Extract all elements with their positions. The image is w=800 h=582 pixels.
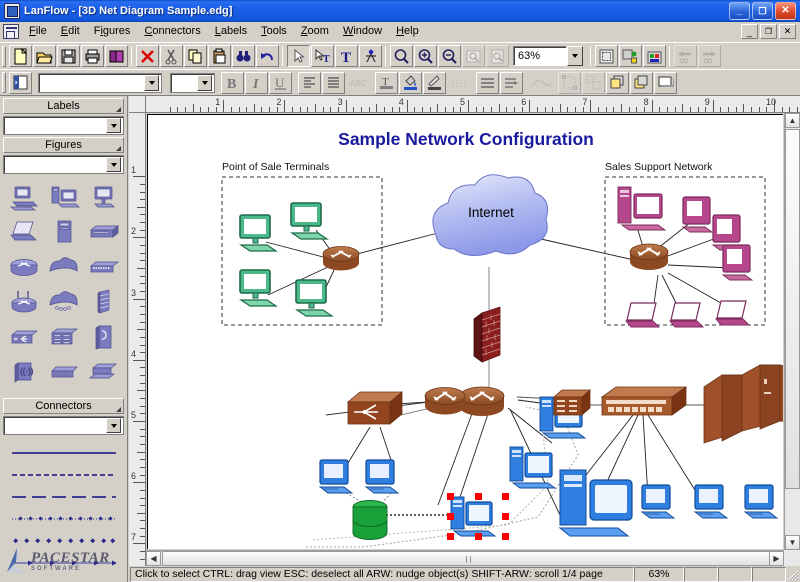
resize-grip-icon[interactable] (116, 146, 121, 151)
vertical-scrollbar[interactable]: ▲ ▼ (784, 113, 800, 550)
ruler-minor-tick (140, 436, 145, 437)
ruler-minor-tick (140, 498, 145, 499)
diagram-canvas[interactable]: Sample Network Configuration Point of Sa… (147, 114, 783, 549)
ruler-label: 7 (131, 532, 136, 542)
palette-section-connectors[interactable]: Connectors (3, 398, 124, 414)
network-switch (602, 387, 686, 415)
palette-labels-title: Labels (47, 100, 79, 112)
svg-text:U: U (275, 75, 285, 90)
zoom-percent-box[interactable]: 63% (513, 46, 567, 66)
page-setup-icon[interactable] (595, 45, 618, 67)
lan-workstation (745, 485, 777, 518)
line-width-icon[interactable] (476, 72, 499, 94)
cut-scissors-icon[interactable] (160, 45, 183, 67)
svg-text:((·)): ((·)) (20, 367, 34, 376)
ruler-label: 3 (338, 97, 343, 107)
ruler-major-tick (133, 482, 145, 483)
ruler-minor-tick (137, 329, 145, 330)
bring-front-icon[interactable] (606, 72, 629, 94)
ruler-minor-tick (598, 107, 599, 112)
ruler-minor-tick (338, 107, 339, 112)
sales-workstation (723, 245, 752, 280)
link-forward-icon[interactable] (698, 45, 721, 67)
zoom-page-icon[interactable] (486, 45, 509, 67)
ruler-minor-tick (140, 314, 145, 315)
ruler-minor-tick (743, 104, 744, 112)
ruler-minor-tick (392, 107, 393, 112)
menu-zoom[interactable]: Zoom (294, 23, 336, 40)
server-tower-figure[interactable] (44, 215, 83, 249)
ruler-minor-tick (140, 528, 145, 529)
minimize-icon: _ (737, 6, 743, 16)
ruler-label: 9 (705, 97, 710, 107)
svg-text:T: T (341, 50, 351, 65)
ruler-minor-tick (736, 107, 737, 112)
pos-terminal (296, 280, 332, 316)
chevron-down-icon[interactable] (144, 75, 159, 91)
mdi-close-icon: ✕ (784, 26, 792, 37)
sales-server-workstation (618, 187, 665, 230)
ruler-minor-tick (246, 107, 247, 112)
ruler-major-tick (223, 100, 224, 112)
connectors-dropdown[interactable] (3, 416, 124, 435)
ruler-minor-tick (137, 513, 145, 514)
lanflow-icon (4, 3, 20, 19)
ruler-minor-tick (797, 107, 798, 112)
pos-terminal (240, 215, 276, 251)
lan-workstation (642, 485, 674, 518)
menu-labels[interactable]: Labels (208, 23, 254, 40)
rack-unit-figure[interactable] (84, 215, 123, 249)
dotted-diamond-connector[interactable] (5, 508, 122, 530)
figures-dropdown[interactable] (3, 155, 124, 174)
find-binoculars-icon[interactable] (232, 45, 255, 67)
sales-laptop (670, 303, 703, 327)
palette-connectors-title: Connectors (35, 400, 91, 412)
ruler-minor-tick (177, 107, 178, 112)
ruler-label: 5 (460, 97, 465, 107)
ruler-major-tick (590, 100, 591, 112)
ruler-minor-tick (261, 107, 262, 112)
undo-arrow-icon[interactable] (256, 45, 279, 67)
core-router (460, 387, 504, 416)
menu-window[interactable]: Window (336, 23, 389, 40)
ruler-minor-tick (140, 444, 145, 445)
svg-text:T: T (323, 54, 330, 65)
ruler-minor-tick (353, 107, 354, 112)
status-bar: Click to select CTRL: drag view ESC: des… (129, 566, 800, 582)
pos-terminal (240, 270, 276, 306)
svg-text:I: I (252, 77, 259, 91)
window-controls: _ ❐ ✕ (729, 2, 798, 20)
link-back-icon[interactable] (674, 45, 697, 67)
ruler-minor-tick (170, 107, 171, 112)
ruler-major-tick (284, 100, 285, 112)
ruler-minor-tick (414, 107, 415, 112)
format-toolbar-grip[interactable] (2, 72, 6, 93)
firewall (474, 307, 500, 362)
chevron-down-icon[interactable] (106, 118, 121, 133)
vertical-ruler: 12345678 (129, 113, 146, 566)
figure-properties-icon[interactable] (619, 45, 642, 67)
selected-figure (447, 493, 509, 540)
toolbar-grip[interactable] (2, 46, 6, 67)
tower-monitor-figure[interactable] (44, 180, 83, 214)
laptop-figure[interactable] (4, 215, 43, 249)
chevron-down-icon[interactable] (106, 157, 121, 172)
ruler-label: 1 (215, 97, 220, 107)
new-document-icon[interactable] (9, 45, 32, 67)
ruler-minor-tick (140, 260, 145, 261)
delete-x-icon[interactable] (136, 45, 159, 67)
labels-dropdown[interactable] (3, 116, 124, 135)
chevron-down-icon[interactable] (106, 418, 121, 433)
line-style-icon[interactable] (447, 72, 470, 94)
ruler-label: 10 (766, 97, 776, 107)
ruler-minor-tick (140, 398, 145, 399)
ruler-minor-tick (445, 107, 446, 112)
dock-panel-icon[interactable] (9, 72, 32, 94)
ruler-minor-tick (208, 107, 209, 112)
align-justify-icon[interactable] (322, 72, 345, 94)
send-back-icon[interactable] (630, 72, 653, 94)
group-label-pos: Point of Sale Terminals (222, 161, 329, 173)
svg-text:B: B (227, 77, 236, 91)
zoom-percent-value: 63% (518, 50, 540, 62)
ruler-minor-tick (140, 199, 145, 200)
ruler-major-tick (133, 421, 145, 422)
arrow-style-icon[interactable] (500, 72, 523, 94)
select-text-icon[interactable]: T (311, 45, 334, 67)
mdi-restore-button[interactable]: ❐ (760, 24, 777, 39)
status-zoom-value: 63% (648, 568, 669, 580)
ruler-label: 2 (276, 97, 281, 107)
ruler-minor-tick (483, 107, 484, 112)
curve-icon[interactable] (529, 72, 552, 94)
save-disk-icon[interactable] (57, 45, 80, 67)
ruler-minor-tick (140, 429, 145, 430)
fill-color-icon[interactable] (399, 72, 422, 94)
ruler-minor-tick (140, 367, 145, 368)
zoom-selection-icon[interactable] (462, 45, 485, 67)
pos-router (323, 247, 359, 271)
wireless-access-point-figure[interactable]: ((·)) (4, 355, 43, 389)
ruler-minor-tick (140, 352, 145, 353)
lanflow-application-window: LanFlow - [3D Net Diagram Sample.edg] _ … (0, 0, 800, 582)
sales-router (630, 244, 668, 270)
ruler-minor-tick (384, 107, 385, 112)
lan-switch (348, 392, 402, 424)
ruler-minor-tick (140, 413, 145, 414)
ruler-minor-tick (789, 107, 790, 112)
horizontal-scroll-thumb[interactable] (162, 551, 770, 566)
ruler-minor-tick (140, 291, 145, 292)
horizontal-scrollbar[interactable]: ◀ ▶ (146, 550, 784, 566)
group-icon[interactable] (558, 72, 581, 94)
menu-edit[interactable]: Edit (54, 23, 87, 40)
chevron-down-icon[interactable] (197, 75, 212, 91)
sales-laptop (716, 301, 749, 325)
scanner-figure[interactable] (84, 355, 123, 389)
ruler-minor-tick (537, 107, 538, 112)
mdi-close-button[interactable]: ✕ (779, 24, 796, 39)
ruler-minor-tick (476, 107, 477, 112)
flat-monitor-figure[interactable] (84, 180, 123, 214)
ruler-minor-tick (140, 375, 145, 376)
ruler-minor-tick (560, 104, 561, 112)
ruler-label: 2 (131, 226, 136, 236)
ruler-minor-tick (499, 104, 500, 112)
scroll-left-button[interactable]: ◀ (146, 551, 161, 566)
ruler-minor-tick (140, 322, 145, 323)
zoom-dropdown-button[interactable] (567, 46, 583, 66)
ruler-minor-tick (453, 107, 454, 112)
ruler-minor-tick (216, 107, 217, 112)
modem-figure[interactable] (44, 355, 83, 389)
ruler-minor-tick (460, 107, 461, 112)
chevron-left-icon: ◀ (150, 554, 156, 563)
ruler-minor-tick (751, 107, 752, 112)
copy-icon[interactable] (184, 45, 207, 67)
ungroup-icon[interactable] (582, 72, 605, 94)
ruler-minor-tick (682, 104, 683, 112)
hub-figure[interactable] (84, 250, 123, 284)
zoom-tool-icon[interactable] (390, 45, 413, 67)
ruler-minor-tick (613, 107, 614, 112)
server-rack-cluster (704, 365, 783, 443)
connector-tool-icon[interactable] (359, 45, 382, 67)
diagram-title: Sample Network Configuration (338, 129, 594, 149)
lan-workstation (695, 485, 727, 518)
ruler-minor-tick (422, 107, 423, 112)
ruler-minor-tick (575, 107, 576, 112)
ruler-minor-tick (140, 345, 145, 346)
zoom-in-icon[interactable] (414, 45, 437, 67)
document-system-menu-icon[interactable] (3, 24, 19, 39)
document-area: 1234567891011 12345678 Sample Network Co… (129, 96, 800, 566)
shadow-icon[interactable] (654, 72, 677, 94)
ruler-minor-tick (140, 505, 145, 506)
ruler-minor-tick (140, 337, 145, 338)
ruler-minor-tick (140, 551, 145, 552)
close-button[interactable]: ✕ (775, 2, 796, 20)
scroll-up-button[interactable]: ▲ (785, 113, 800, 128)
dashed-line-connector[interactable] (5, 464, 122, 486)
ruler-minor-tick (361, 107, 362, 112)
sales-workstation (683, 197, 712, 232)
chevron-down-icon: ▼ (789, 538, 797, 547)
ruler-minor-tick (140, 192, 145, 193)
ruler-major-tick (133, 176, 145, 177)
ruler-minor-tick (545, 107, 546, 112)
scroll-right-button[interactable]: ▶ (769, 551, 784, 566)
ruler-major-tick (133, 299, 145, 300)
select-pointer-icon[interactable] (287, 45, 310, 67)
ruler-major-tick (468, 100, 469, 112)
ruler-minor-tick (137, 268, 145, 269)
print-icon[interactable] (81, 45, 104, 67)
ruler-minor-tick (720, 107, 721, 112)
ruler-minor-tick (277, 107, 278, 112)
main-toolbar: T T 63% (0, 42, 800, 69)
ruler-minor-tick (659, 107, 660, 112)
ruler-minor-tick (782, 107, 783, 112)
ruler-label: 8 (644, 97, 649, 107)
distribution-router (425, 388, 465, 415)
ruler-minor-tick (315, 104, 316, 112)
ruler-minor-tick (506, 107, 507, 112)
wireless-router-figure[interactable] (4, 285, 43, 319)
ruler-minor-tick (728, 107, 729, 112)
ruler-major-tick (133, 237, 145, 238)
window-title: LanFlow - [3D Net Diagram Sample.edg] (24, 5, 729, 17)
logo-primary-text: PACESTAR (31, 551, 110, 566)
ruler-minor-tick (137, 452, 145, 453)
ruler-minor-tick (140, 490, 145, 491)
ruler-minor-tick (376, 104, 377, 112)
menu-figures[interactable]: Figures (87, 23, 138, 40)
patch-panel (554, 390, 590, 415)
mdi-restore-icon: ❐ (765, 27, 772, 36)
lan-workstation (366, 460, 398, 493)
ruler-minor-tick (140, 536, 145, 537)
text-color-icon[interactable]: T (375, 72, 398, 94)
ruler-major-tick (407, 100, 408, 112)
ruler-minor-tick (140, 283, 145, 284)
palette-figures-title: Figures (45, 139, 82, 151)
datacenter-workstation (560, 470, 632, 536)
ruler-minor-tick (140, 459, 145, 460)
pos-terminal-group (240, 203, 359, 316)
mdi-minimize-button[interactable]: _ (741, 24, 758, 39)
ruler-minor-tick (231, 107, 232, 112)
italic-icon[interactable]: I (245, 72, 268, 94)
open-folder-icon[interactable] (33, 45, 56, 67)
mdi-minimize-icon: _ (747, 27, 752, 37)
status-panel-2 (684, 567, 718, 582)
ruler-minor-tick (140, 230, 145, 231)
ruler-major-tick (346, 100, 347, 112)
menu-help[interactable]: Help (389, 23, 426, 40)
resize-grip-icon[interactable] (787, 569, 799, 581)
print-preview-book-icon[interactable] (105, 45, 128, 67)
ruler-minor-tick (140, 520, 145, 521)
sales-support-group (618, 187, 752, 327)
cloud-small-figure[interactable] (44, 285, 83, 319)
zoom-out-icon[interactable] (438, 45, 461, 67)
ruler-minor-tick (140, 383, 145, 384)
ruler-label: 4 (131, 349, 136, 359)
maximize-button[interactable]: ❐ (752, 2, 773, 20)
ruler-minor-tick (239, 107, 240, 112)
ruler-corner (129, 96, 146, 113)
close-icon: ✕ (781, 6, 789, 16)
ruler-minor-tick (140, 245, 145, 246)
scroll-down-button[interactable]: ▼ (785, 535, 800, 550)
font-name-combo[interactable] (38, 73, 162, 93)
palette-section-figures[interactable]: Figures (3, 137, 124, 153)
ruler-minor-tick (629, 107, 630, 112)
paste-clipboard-icon[interactable] (208, 45, 231, 67)
ruler-minor-tick (667, 107, 668, 112)
vertical-scroll-thumb[interactable] (785, 129, 800, 489)
ruler-minor-tick (254, 104, 255, 112)
resize-grip-icon[interactable] (116, 407, 121, 412)
sales-laptop (626, 303, 659, 327)
ruler-minor-tick (698, 107, 699, 112)
ruler-minor-tick (675, 107, 676, 112)
menu-file[interactable]: File (22, 23, 54, 40)
ruler-label: 7 (582, 97, 587, 107)
palette-section-labels[interactable]: Labels (3, 98, 124, 114)
ruler-minor-tick (140, 214, 145, 215)
ruler-minor-tick (766, 107, 767, 112)
format-toolbar: B I U ABC T (0, 69, 800, 96)
diagram-properties-icon[interactable] (643, 45, 666, 67)
network-cloud-figure[interactable] (44, 250, 83, 284)
database-server (353, 501, 387, 540)
ruler-label: 5 (131, 410, 136, 420)
logo-secondary-text: SOFTWARE (31, 566, 110, 572)
resize-grip-icon[interactable] (116, 107, 121, 112)
switch-figure[interactable] (4, 320, 43, 354)
minimize-button[interactable]: _ (729, 2, 750, 20)
menu-connectors[interactable]: Connectors (137, 23, 207, 40)
firewall-figure[interactable] (84, 285, 123, 319)
text-tool-icon[interactable]: T (335, 45, 358, 67)
ruler-minor-tick (522, 107, 523, 112)
underline-icon[interactable]: U (269, 72, 292, 94)
ruler-minor-tick (200, 107, 201, 112)
font-size-combo[interactable] (170, 73, 215, 93)
pacestar-mark-icon (4, 546, 30, 576)
ruler-minor-tick (307, 107, 308, 112)
ruler-major-tick (133, 543, 145, 544)
spellcheck-icon[interactable]: ABC (346, 72, 369, 94)
ruler-major-tick (652, 100, 653, 112)
line-color-icon[interactable] (423, 72, 446, 94)
status-hint-text: Click to select CTRL: drag view ESC: des… (135, 568, 603, 580)
pos-terminal (291, 203, 327, 239)
menu-tools[interactable]: Tools (254, 23, 294, 40)
ruler-minor-tick (140, 306, 145, 307)
lan-workstation (320, 460, 352, 493)
horizontal-ruler: 1234567891011 (146, 96, 800, 113)
status-zoom-panel: 63% (634, 567, 684, 582)
internet-cloud: Internet (433, 175, 548, 256)
align-left-icon[interactable] (298, 72, 321, 94)
ruler-minor-tick (137, 207, 145, 208)
figures-grid: ((·)) (3, 177, 124, 392)
tool-palette: Labels Figures (0, 96, 128, 582)
ruler-minor-tick (140, 475, 145, 476)
bold-icon[interactable]: B (221, 72, 244, 94)
desktop-computer-figure[interactable] (4, 180, 43, 214)
title-bar: LanFlow - [3D Net Diagram Sample.edg] _ … (0, 0, 800, 22)
network-diagram: Sample Network Configuration Point of Sa… (148, 115, 783, 549)
ruler-minor-tick (140, 222, 145, 223)
disk-array-figure[interactable] (84, 320, 123, 354)
ruler-minor-tick (292, 107, 293, 112)
ruler-major-tick (713, 100, 714, 112)
ruler-minor-tick (491, 107, 492, 112)
ruler-label: 6 (131, 471, 136, 481)
patch-panel-figure[interactable] (44, 320, 83, 354)
chevron-up-icon: ▲ (789, 116, 797, 125)
solid-line-connector[interactable] (5, 442, 122, 464)
router-figure[interactable] (4, 250, 43, 284)
long-dash-connector[interactable] (5, 486, 122, 508)
